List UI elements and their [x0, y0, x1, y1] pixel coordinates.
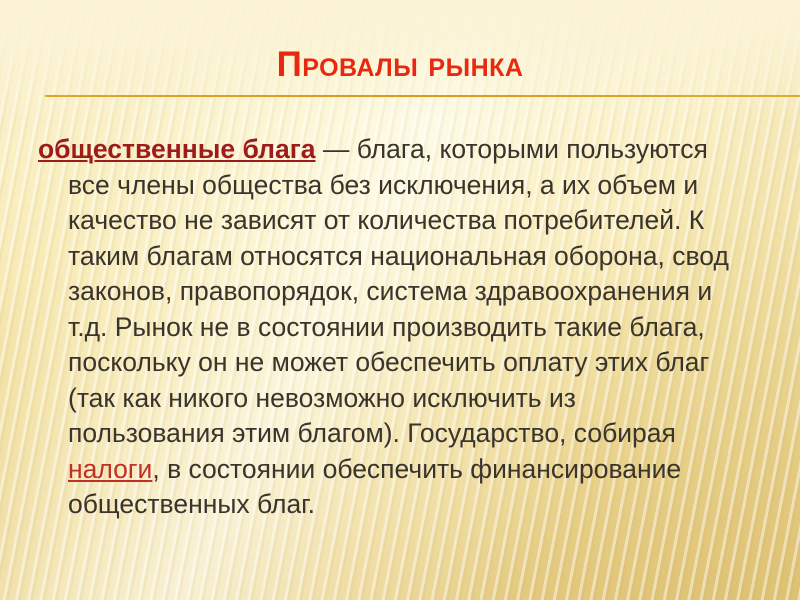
- definition-text-part-2: , в состоянии обеспечить финансирование …: [68, 454, 681, 520]
- page-title: Провалы рынка: [277, 44, 524, 86]
- title-divider-rule: [45, 95, 800, 97]
- slide-content: Провалы рынка общественные блага — блага…: [0, 0, 800, 600]
- definition-paragraph: общественные блага — блага, которыми пол…: [38, 132, 738, 523]
- slide-title-area: Провалы рынка: [0, 44, 800, 86]
- slide-body-area: общественные блага — блага, которыми пол…: [38, 132, 738, 523]
- definition-text-part-1: — блага, которыми пользуются все члены о…: [68, 134, 729, 448]
- presentation-slide: Провалы рынка общественные блага — блага…: [0, 0, 800, 600]
- taxes-hyperlink[interactable]: налоги: [68, 454, 152, 484]
- defined-term: общественные блага: [38, 134, 316, 164]
